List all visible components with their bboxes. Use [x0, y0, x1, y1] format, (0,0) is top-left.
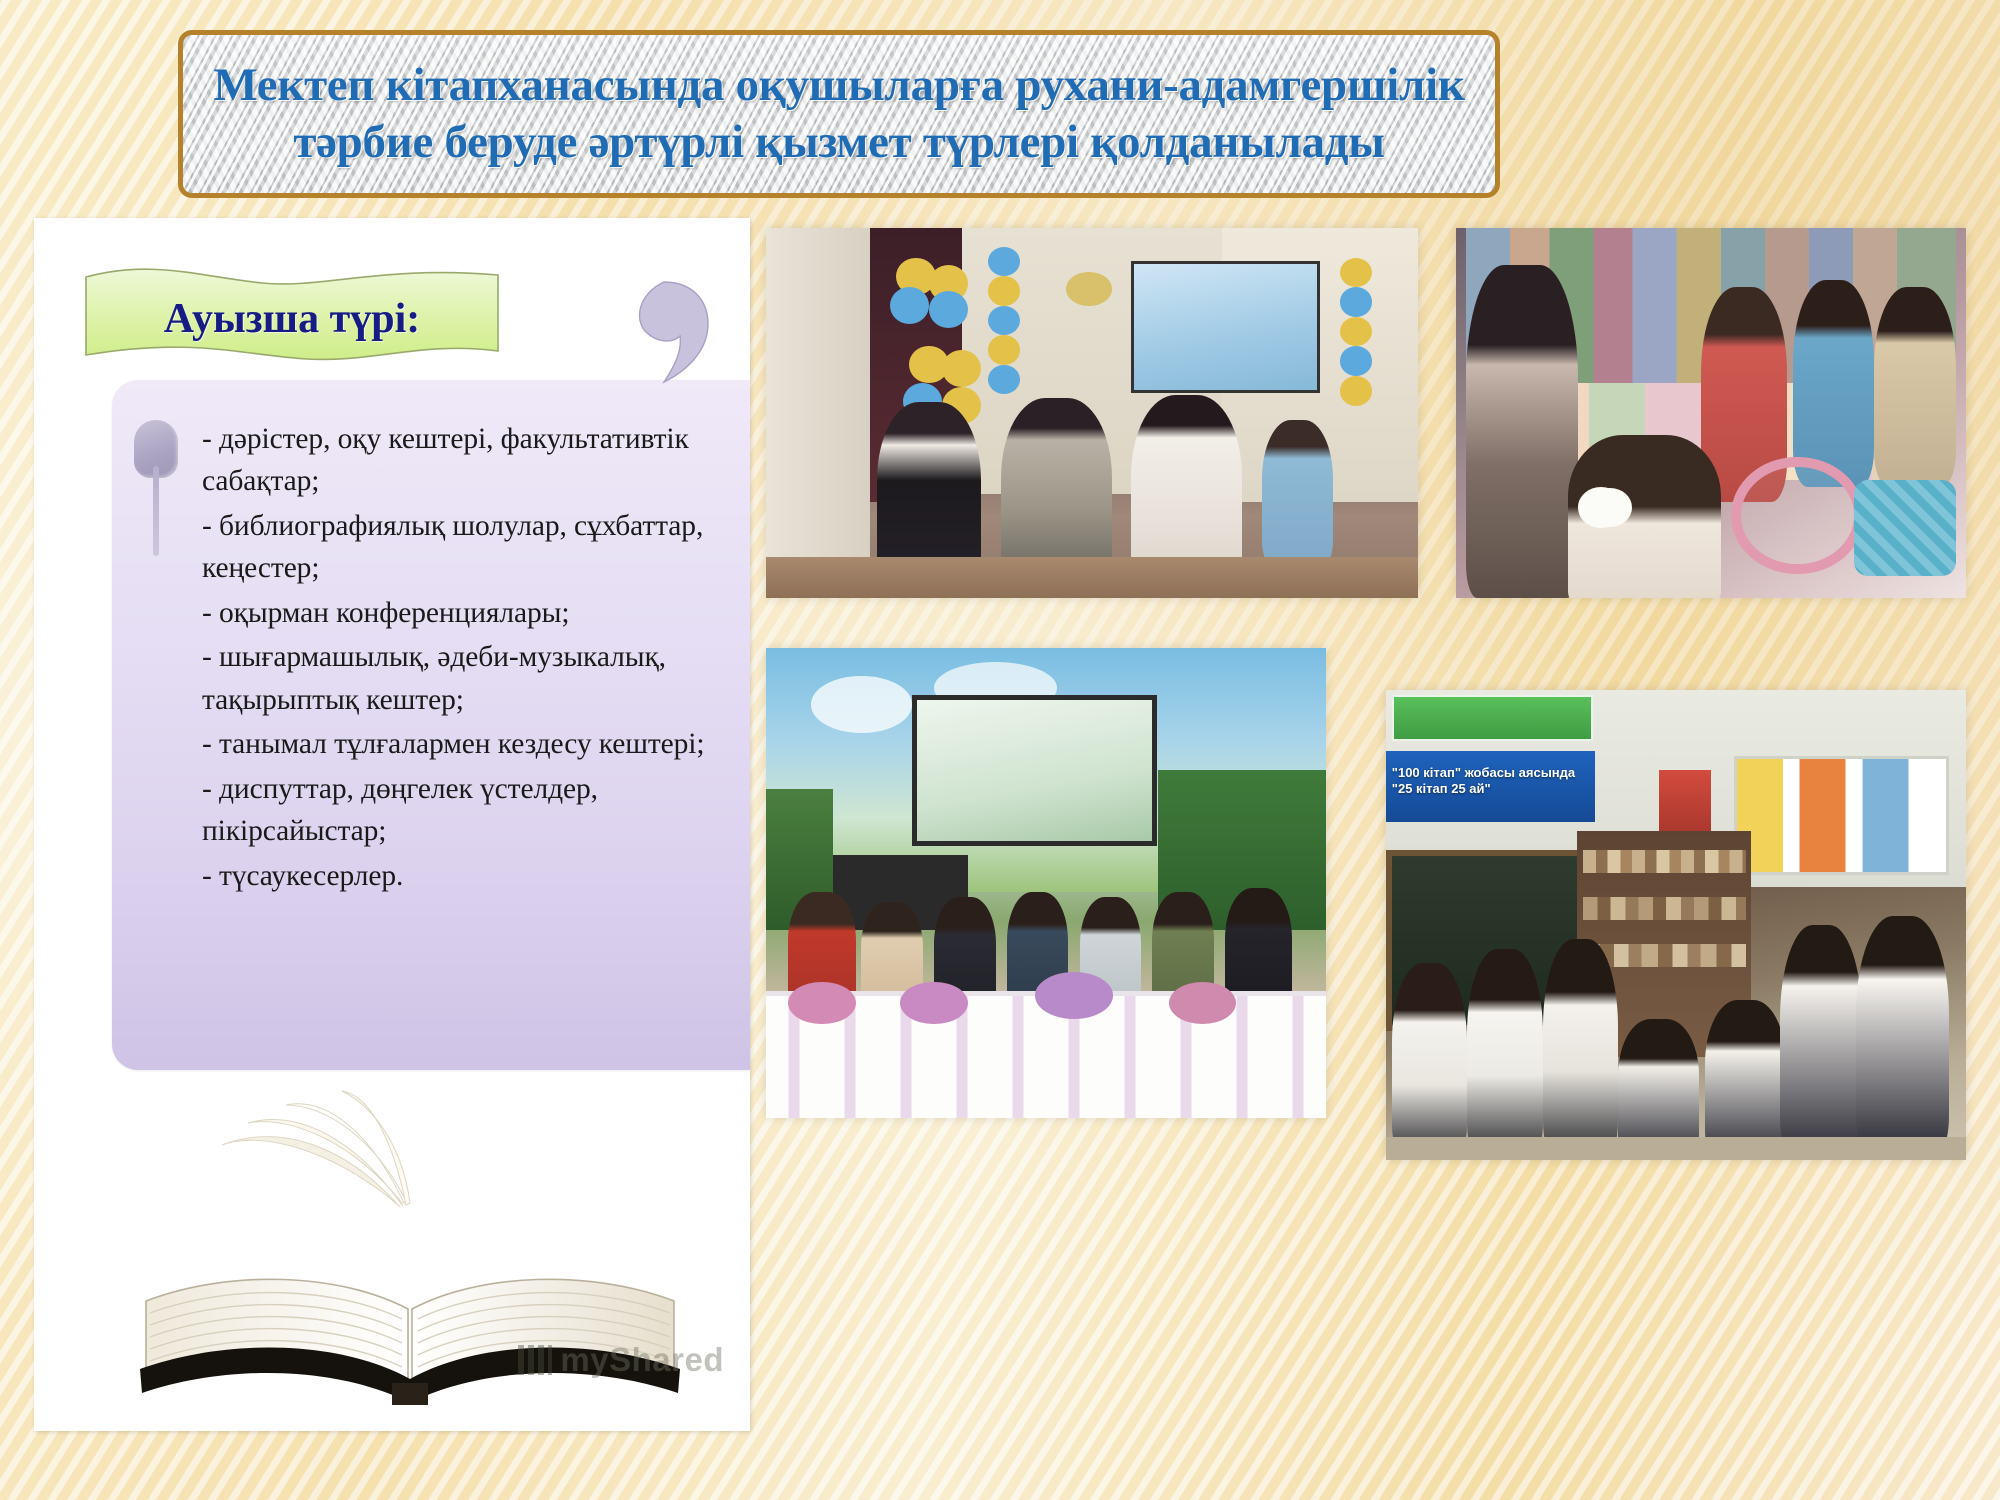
bullet-bead-icon: [134, 420, 178, 478]
list-item: - дәрістер, оқу кештері, факультативтік …: [202, 418, 750, 503]
photo-ceremony: [766, 228, 1418, 598]
oral-forms-panel: - дәрістер, оқу кештері, факультативтік …: [112, 380, 750, 1070]
photo-stage-image: [766, 648, 1326, 1118]
watermark-icon: [518, 1345, 552, 1375]
watermark-label: myShared: [560, 1341, 724, 1379]
content-card: Ауызша түрі: - дәрістер, оқу кештері, фа…: [34, 218, 750, 1431]
photo-library: "100 кітап" жобасы аясында "25 кітап 25 …: [1386, 690, 1966, 1160]
page-title: Мектеп кітапханасында оқушыларға рухани-…: [183, 57, 1495, 172]
photo-stage: [766, 648, 1326, 1118]
photo-exhibit: [1456, 228, 1966, 598]
slide-title-box: Мектеп кітапханасында оқушыларға рухани-…: [178, 30, 1500, 198]
library-banner-text: "100 кітап" жобасы аясында "25 кітап 25 …: [1392, 765, 1589, 798]
photo-exhibit-image: [1456, 228, 1966, 598]
slide-canvas: Мектеп кітапханасында оқушыларға рухани-…: [0, 0, 2000, 1500]
oral-forms-list: - дәрістер, оқу кештері, факультативтік …: [202, 418, 750, 899]
presentation-screen: [912, 695, 1157, 846]
section-banner-label: Ауызша түрі:: [82, 295, 502, 343]
list-item: - түсаукесерлер.: [202, 855, 750, 897]
photo-ceremony-image: [766, 228, 1418, 598]
section-banner: Ауызша түрі:: [82, 255, 502, 375]
projector-screen: [1131, 261, 1320, 393]
list-item: - библиографиялық шолулар, сұхбаттар, ке…: [202, 505, 750, 590]
swirl-shape: [616, 278, 712, 386]
list-item: - танымал тұлғалармен кездесу кештері;: [202, 723, 750, 765]
quote-swirl-icon: [616, 278, 712, 386]
watermark: myShared: [518, 1341, 724, 1379]
list-item: - шығармашылық, әдеби-музыкалық, тақырып…: [202, 636, 750, 721]
photo-library-image: "100 кітап" жобасы аясында "25 кітап 25 …: [1386, 690, 1966, 1160]
list-item: - диспуттар, дөңгелек үстелдер, пікірсай…: [202, 768, 750, 853]
list-item: - оқырман конференциялары;: [202, 592, 750, 634]
